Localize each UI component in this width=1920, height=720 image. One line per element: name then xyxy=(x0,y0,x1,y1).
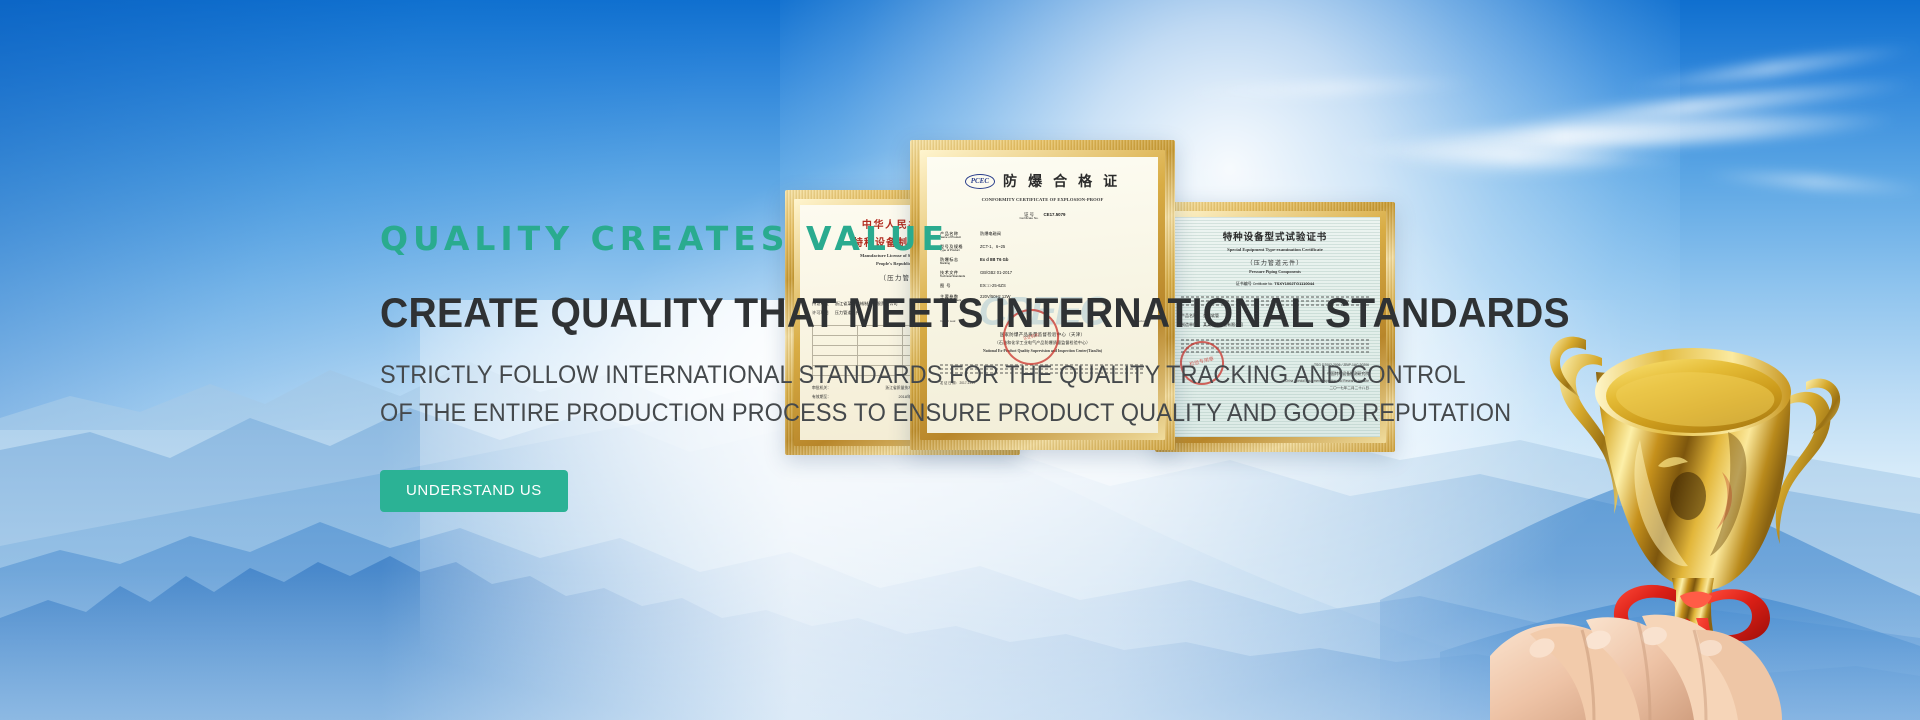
eyebrow-heading: QUALITY CREATES VALUE xyxy=(380,222,1500,255)
hero-subtitle: STRICTLY FOLLOW INTERNATIONAL STANDARDS … xyxy=(380,357,1433,432)
understand-us-button[interactable]: UNDERSTAND US xyxy=(380,470,568,512)
pcec-logo-badge: PCEC xyxy=(965,174,995,189)
cert-center-en-title: CONFORMITY CERTIFICATE OF EXPLOSION-PROO… xyxy=(982,197,1104,203)
cert-center-cn-title: 防 爆 合 格 证 xyxy=(1003,171,1120,191)
hero-copy: QUALITY CREATES VALUE CREATE QUALITY THA… xyxy=(380,222,1500,512)
hero-subtitle-line-1: STRICTLY FOLLOW INTERNATIONAL STANDARDS … xyxy=(380,357,1433,395)
cert-center-certno-label-en: Certificate No. xyxy=(1020,217,1039,220)
hero-subtitle-line-2: OF THE ENTIRE PRODUCTION PROCESS TO ENSU… xyxy=(380,395,1433,433)
page-title: CREATE QUALITY THAT MEETS INTERNATIONAL … xyxy=(380,291,1422,335)
hero-banner: 中华人民共和国 特种设备制造许可证 Manufacture License of… xyxy=(0,0,1920,720)
trophy-illustration xyxy=(1490,300,1920,720)
cert-center-certno: CE17.5079 xyxy=(1044,212,1066,217)
